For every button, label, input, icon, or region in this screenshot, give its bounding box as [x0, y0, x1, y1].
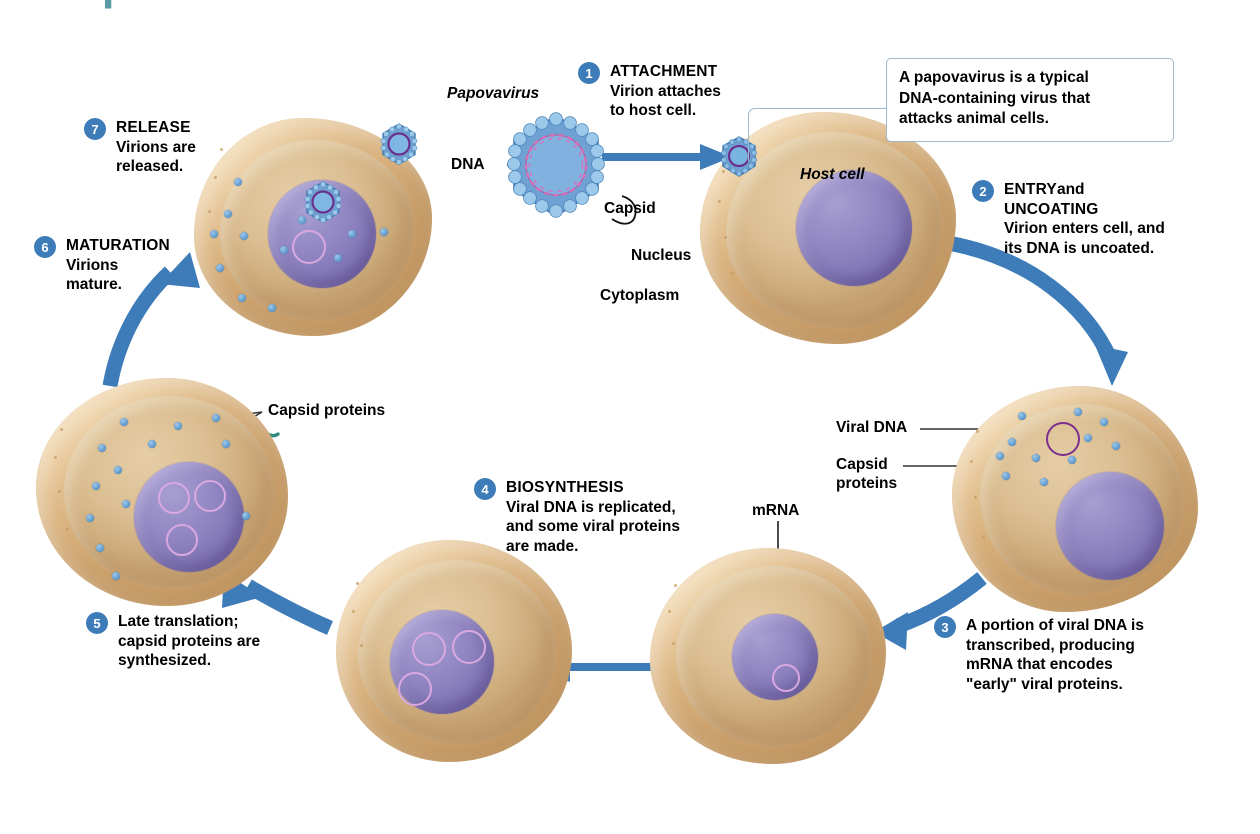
cell-nucleus — [134, 462, 244, 572]
diagram-canvas: Replication of dsDNA Animal Virus — [0, 0, 1260, 834]
step-2-body-line-2: its DNA is uncoated. — [1004, 239, 1218, 259]
viral-dna-ring — [772, 664, 800, 692]
step-3-body-line-1: A portion of viral DNA is — [966, 616, 1234, 636]
step-2-body-line-1: Virion enters cell, and — [1004, 219, 1218, 239]
label-nucleus: Nucleus — [631, 247, 691, 266]
step-4-heading: BIOSYNTHESIS — [506, 478, 724, 498]
label-cytoplasm: Cytoplasm — [600, 287, 679, 306]
papovavirus-particle — [494, 110, 618, 228]
step-7-body-line-2: released. — [116, 157, 244, 177]
callout-connector — [748, 108, 889, 161]
callout-line-2: DNA-containing virus that — [899, 89, 1161, 110]
viral-dna-ring — [158, 482, 190, 514]
step-7-heading: RELEASE — [116, 118, 244, 138]
step-6-badge: 6 — [34, 236, 56, 258]
step-1-badge: 1 — [578, 62, 600, 84]
arrow-step-2 — [948, 243, 1128, 386]
viral-dna-ring — [452, 630, 486, 664]
viral-dna-ring — [1046, 422, 1080, 456]
label-capsid-proteins-right-line-1: Capsid — [836, 456, 897, 475]
step-2-heading-line-1: ENTRYand — [1004, 180, 1218, 200]
cell-biosynthesis — [336, 540, 572, 762]
step-3: 3 A portion of viral DNA is transcribed,… — [934, 616, 1234, 695]
virion-released — [376, 122, 422, 168]
label-capsid-proteins-left: Capsid proteins — [268, 402, 385, 421]
step-4: 4 BIOSYNTHESIS Viral DNA is replicated, … — [474, 478, 724, 557]
cell-nucleus — [796, 170, 912, 286]
viral-dna-ring — [194, 480, 226, 512]
virion-mature-in-nucleus — [300, 180, 346, 226]
viral-dna-ring — [412, 632, 446, 666]
cell-uncoated — [952, 386, 1198, 612]
label-dna: DNA — [451, 156, 485, 175]
viral-dna-ring — [398, 672, 432, 706]
step-3-body-line-2: transcribed, producing — [966, 636, 1234, 656]
step-2-badge: 2 — [972, 180, 994, 202]
step-3-body-line-4: "early" viral proteins. — [966, 675, 1234, 695]
viral-dna-ring — [166, 524, 198, 556]
step-5-body-line-2: capsid proteins are — [118, 632, 316, 652]
step-1-body-line-1: Virion attaches — [610, 82, 758, 102]
cell-nucleus — [1056, 472, 1164, 580]
step-4-body-line-1: Viral DNA is replicated, — [506, 498, 724, 518]
cell-late-translation — [36, 378, 288, 606]
label-capsid-proteins-right-line-2: proteins — [836, 475, 897, 494]
step-6-body-line-1: Virions — [66, 256, 214, 276]
callout-line-1: A papovavirus is a typical — [899, 68, 1161, 89]
step-3-body-line-3: mRNA that encodes — [966, 655, 1234, 675]
label-viral-dna: Viral DNA — [836, 419, 907, 438]
step-3-badge: 3 — [934, 616, 956, 638]
step-5-badge: 5 — [86, 612, 108, 634]
step-1-heading: ATTACHMENT — [610, 62, 758, 82]
step-6-heading: MATURATION — [66, 236, 214, 256]
callout-box: A papovavirus is a typical DNA-containin… — [886, 58, 1174, 142]
step-2: 2 ENTRYand UNCOATING Virion enters cell,… — [972, 180, 1218, 259]
step-7: 7 RELEASE Virions are released. — [84, 118, 244, 177]
step-5: 5 Late translation; capsid proteins are … — [86, 612, 316, 671]
label-capsid: Capsid — [604, 200, 656, 219]
callout-line-3: attacks animal cells. — [899, 109, 1161, 130]
step-6: 6 MATURATION Virions mature. — [34, 236, 214, 295]
step-1: 1 ATTACHMENT Virion attaches to host cel… — [578, 62, 758, 121]
page-title: Replication of dsDNA Animal Virus — [44, 0, 787, 10]
cell-transcription — [650, 548, 886, 764]
step-7-badge: 7 — [84, 118, 106, 140]
step-4-badge: 4 — [474, 478, 496, 500]
label-capsid-proteins-right: Capsid proteins — [836, 456, 897, 493]
label-mrna: mRNA — [752, 502, 799, 521]
label-host-cell: Host cell — [800, 166, 865, 185]
step-2-heading-line-2: UNCOATING — [1004, 200, 1218, 220]
step-4-body-line-2: and some viral proteins — [506, 517, 724, 537]
step-5-body-line-1: Late translation; — [118, 612, 316, 632]
viral-dna-ring — [292, 230, 326, 264]
step-7-body-line-1: Virions are — [116, 138, 244, 158]
label-papovavirus: Papovavirus — [447, 85, 539, 104]
step-1-body-line-2: to host cell. — [610, 101, 758, 121]
step-4-body-line-3: are made. — [506, 537, 724, 557]
step-6-body-line-2: mature. — [66, 275, 214, 295]
step-5-body-line-3: synthesized. — [118, 651, 316, 671]
